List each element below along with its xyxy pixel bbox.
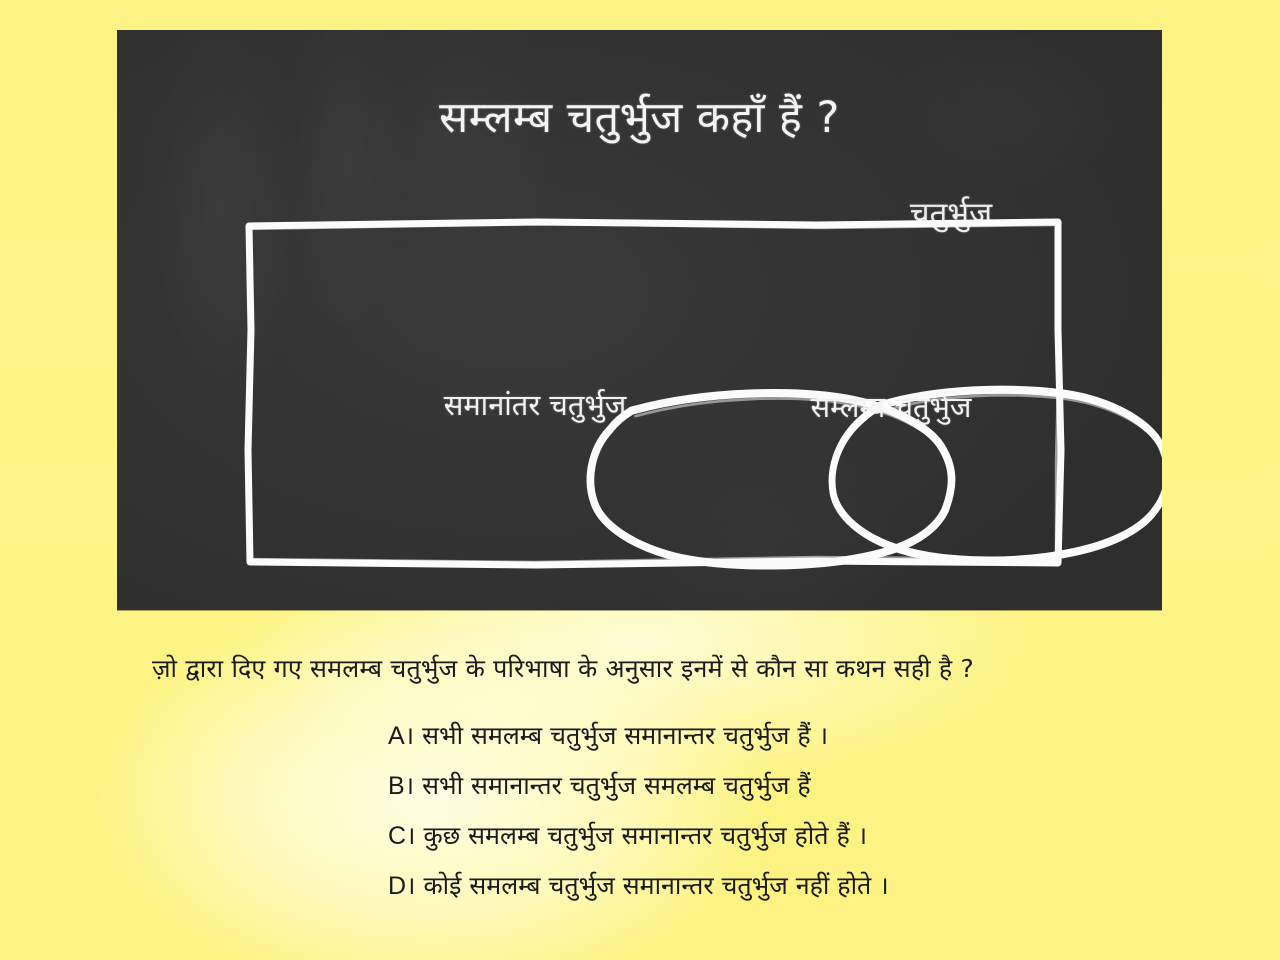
option-a[interactable]: A। सभी समलम्ब चतुर्भुज समानान्तर चतुर्भु… [388, 718, 889, 752]
ellipse-label-parallelogram: समानांतर चतुर्भुज [364, 385, 706, 424]
option-d-key: D। [388, 872, 416, 900]
venn-diagram [117, 30, 1162, 610]
option-b-text: सभी समानान्तर चतुर्भुज समलम्ब चतुर्भुज ह… [422, 771, 811, 800]
option-c-text: कुछ समलम्ब चतुर्भुज समानान्तर चतुर्भुज ह… [423, 821, 867, 850]
answer-options-list: A। सभी समलम्ब चतुर्भुज समानान्तर चतुर्भु… [388, 718, 889, 902]
option-c-key: C। [388, 822, 416, 850]
question-text: ज़ो द्वारा दिए गए समलम्ब चतुर्भुज के परि… [152, 651, 974, 685]
option-d-text: कोई समलम्ब चतुर्भुज समानान्तर चतुर्भुज न… [423, 871, 888, 900]
option-d[interactable]: D। कोई समलम्ब चतुर्भुज समानान्तर चतुर्भु… [388, 868, 889, 902]
ellipse-label-trapezium: सम्लम्ब चतुर्भुज [720, 387, 1062, 426]
blackboard: सम्लम्ब चतुर्भुज कहाँ हैं ? चतुर्भुज समा… [117, 30, 1162, 610]
option-b[interactable]: B। सभी समानान्तर चतुर्भुज समलम्ब चतुर्भु… [388, 768, 889, 802]
option-b-key: B। [388, 772, 414, 800]
option-c[interactable]: C। कुछ समलम्ब चतुर्भुज समानान्तर चतुर्भु… [388, 818, 889, 852]
option-a-key: A। [388, 722, 414, 750]
option-a-text: सभी समलम्ब चतुर्भुज समानान्तर चतुर्भुज ह… [422, 721, 828, 750]
